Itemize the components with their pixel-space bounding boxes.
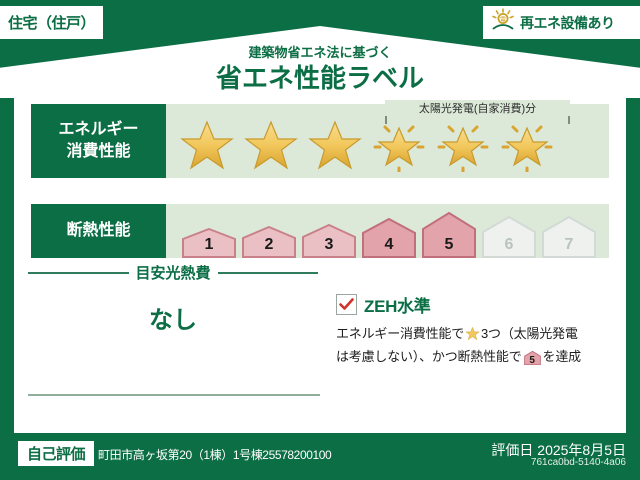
house-type-badge: 住宅（住戸）: [0, 6, 103, 39]
utility-cost-value: なし: [28, 300, 318, 335]
footer-divider: [14, 431, 626, 433]
insulation-segment-inactive: 7: [541, 216, 597, 258]
svg-text:電: 電: [500, 16, 506, 23]
house-type-badge-label: 住宅（住戸）: [8, 12, 95, 33]
insulation-segment: 3: [301, 224, 357, 258]
zeh-heading: ZEH水準: [336, 292, 612, 317]
solar-bracket-label: 太陽光発電(自家消費)分: [385, 100, 570, 116]
inline-star-icon: [465, 326, 480, 347]
property-address: 町田市高ヶ坂第20（1棟）1号棟25578200100: [98, 446, 331, 463]
self-evaluation-badge: 自己評価: [18, 441, 94, 466]
utility-cost-label: 目安光熱費: [136, 262, 211, 283]
insulation-segment: 4: [361, 218, 417, 258]
insulation-performance-label: 断熱性能: [31, 204, 166, 258]
evaluation-id: 761ca0bd-5140-4a06: [531, 457, 626, 468]
insulation-scale: 1 2 3 4 5 6 7: [181, 204, 597, 258]
inline-house-badge: 5: [524, 351, 541, 371]
insulation-segment: 5: [421, 212, 477, 258]
cost-divider: [28, 394, 320, 396]
zeh-description: エネルギー消費性能で3つ（太陽光発電 は考慮しない）、かつ断熱性能で5を達成: [336, 324, 612, 371]
renewable-energy-badge: 電 再エネ設備あり: [483, 6, 640, 39]
zeh-panel: ZEH水準 エネルギー消費性能で3つ（太陽光発電 は考慮しない）、かつ断熱性能で…: [336, 292, 612, 371]
solar-sun-icon: 電: [490, 8, 516, 37]
insulation-segment-inactive: 6: [481, 216, 537, 258]
utility-cost-heading: 目安光熱費: [28, 262, 318, 283]
star-solar-icon: [371, 118, 427, 172]
star-solar-icon: [499, 118, 555, 172]
zeh-checkbox[interactable]: [336, 294, 357, 315]
renewable-energy-badge-label: 再エネ設備あり: [520, 13, 615, 33]
star-icon: [179, 118, 235, 172]
star-solar-icon: [435, 118, 491, 172]
cost-rule-left: [28, 272, 129, 274]
star-icon: [243, 118, 299, 172]
zeh-title: ZEH水準: [364, 292, 431, 317]
zeh-text-star-count: 3つ（太陽光発電: [481, 326, 578, 341]
page-title: 省エネ性能ラベル: [0, 58, 640, 95]
zeh-text-part3: を達成: [543, 349, 581, 364]
evaluation-date-value: 2025年8月5日: [537, 442, 626, 458]
insulation-performance-row: 断熱性能 1 2 3 4 5: [31, 204, 609, 258]
energy-label-card: 住宅（住戸） 電 再エネ設備あり 建築物省エネ法に基づく 省エネ性能ラベル: [0, 0, 640, 480]
insulation-segment: 1: [181, 228, 237, 258]
evaluation-date-label: 評価日: [491, 442, 533, 458]
energy-performance-label: エネルギー 消費性能: [31, 104, 166, 178]
star-icon: [307, 118, 363, 172]
zeh-text-part2: は考慮しない）、かつ断熱性能で: [336, 349, 522, 364]
cost-rule-right: [218, 272, 319, 274]
energy-star-rating: [179, 118, 555, 172]
zeh-text-part1: エネルギー消費性能で: [336, 326, 464, 341]
insulation-segment: 2: [241, 226, 297, 258]
